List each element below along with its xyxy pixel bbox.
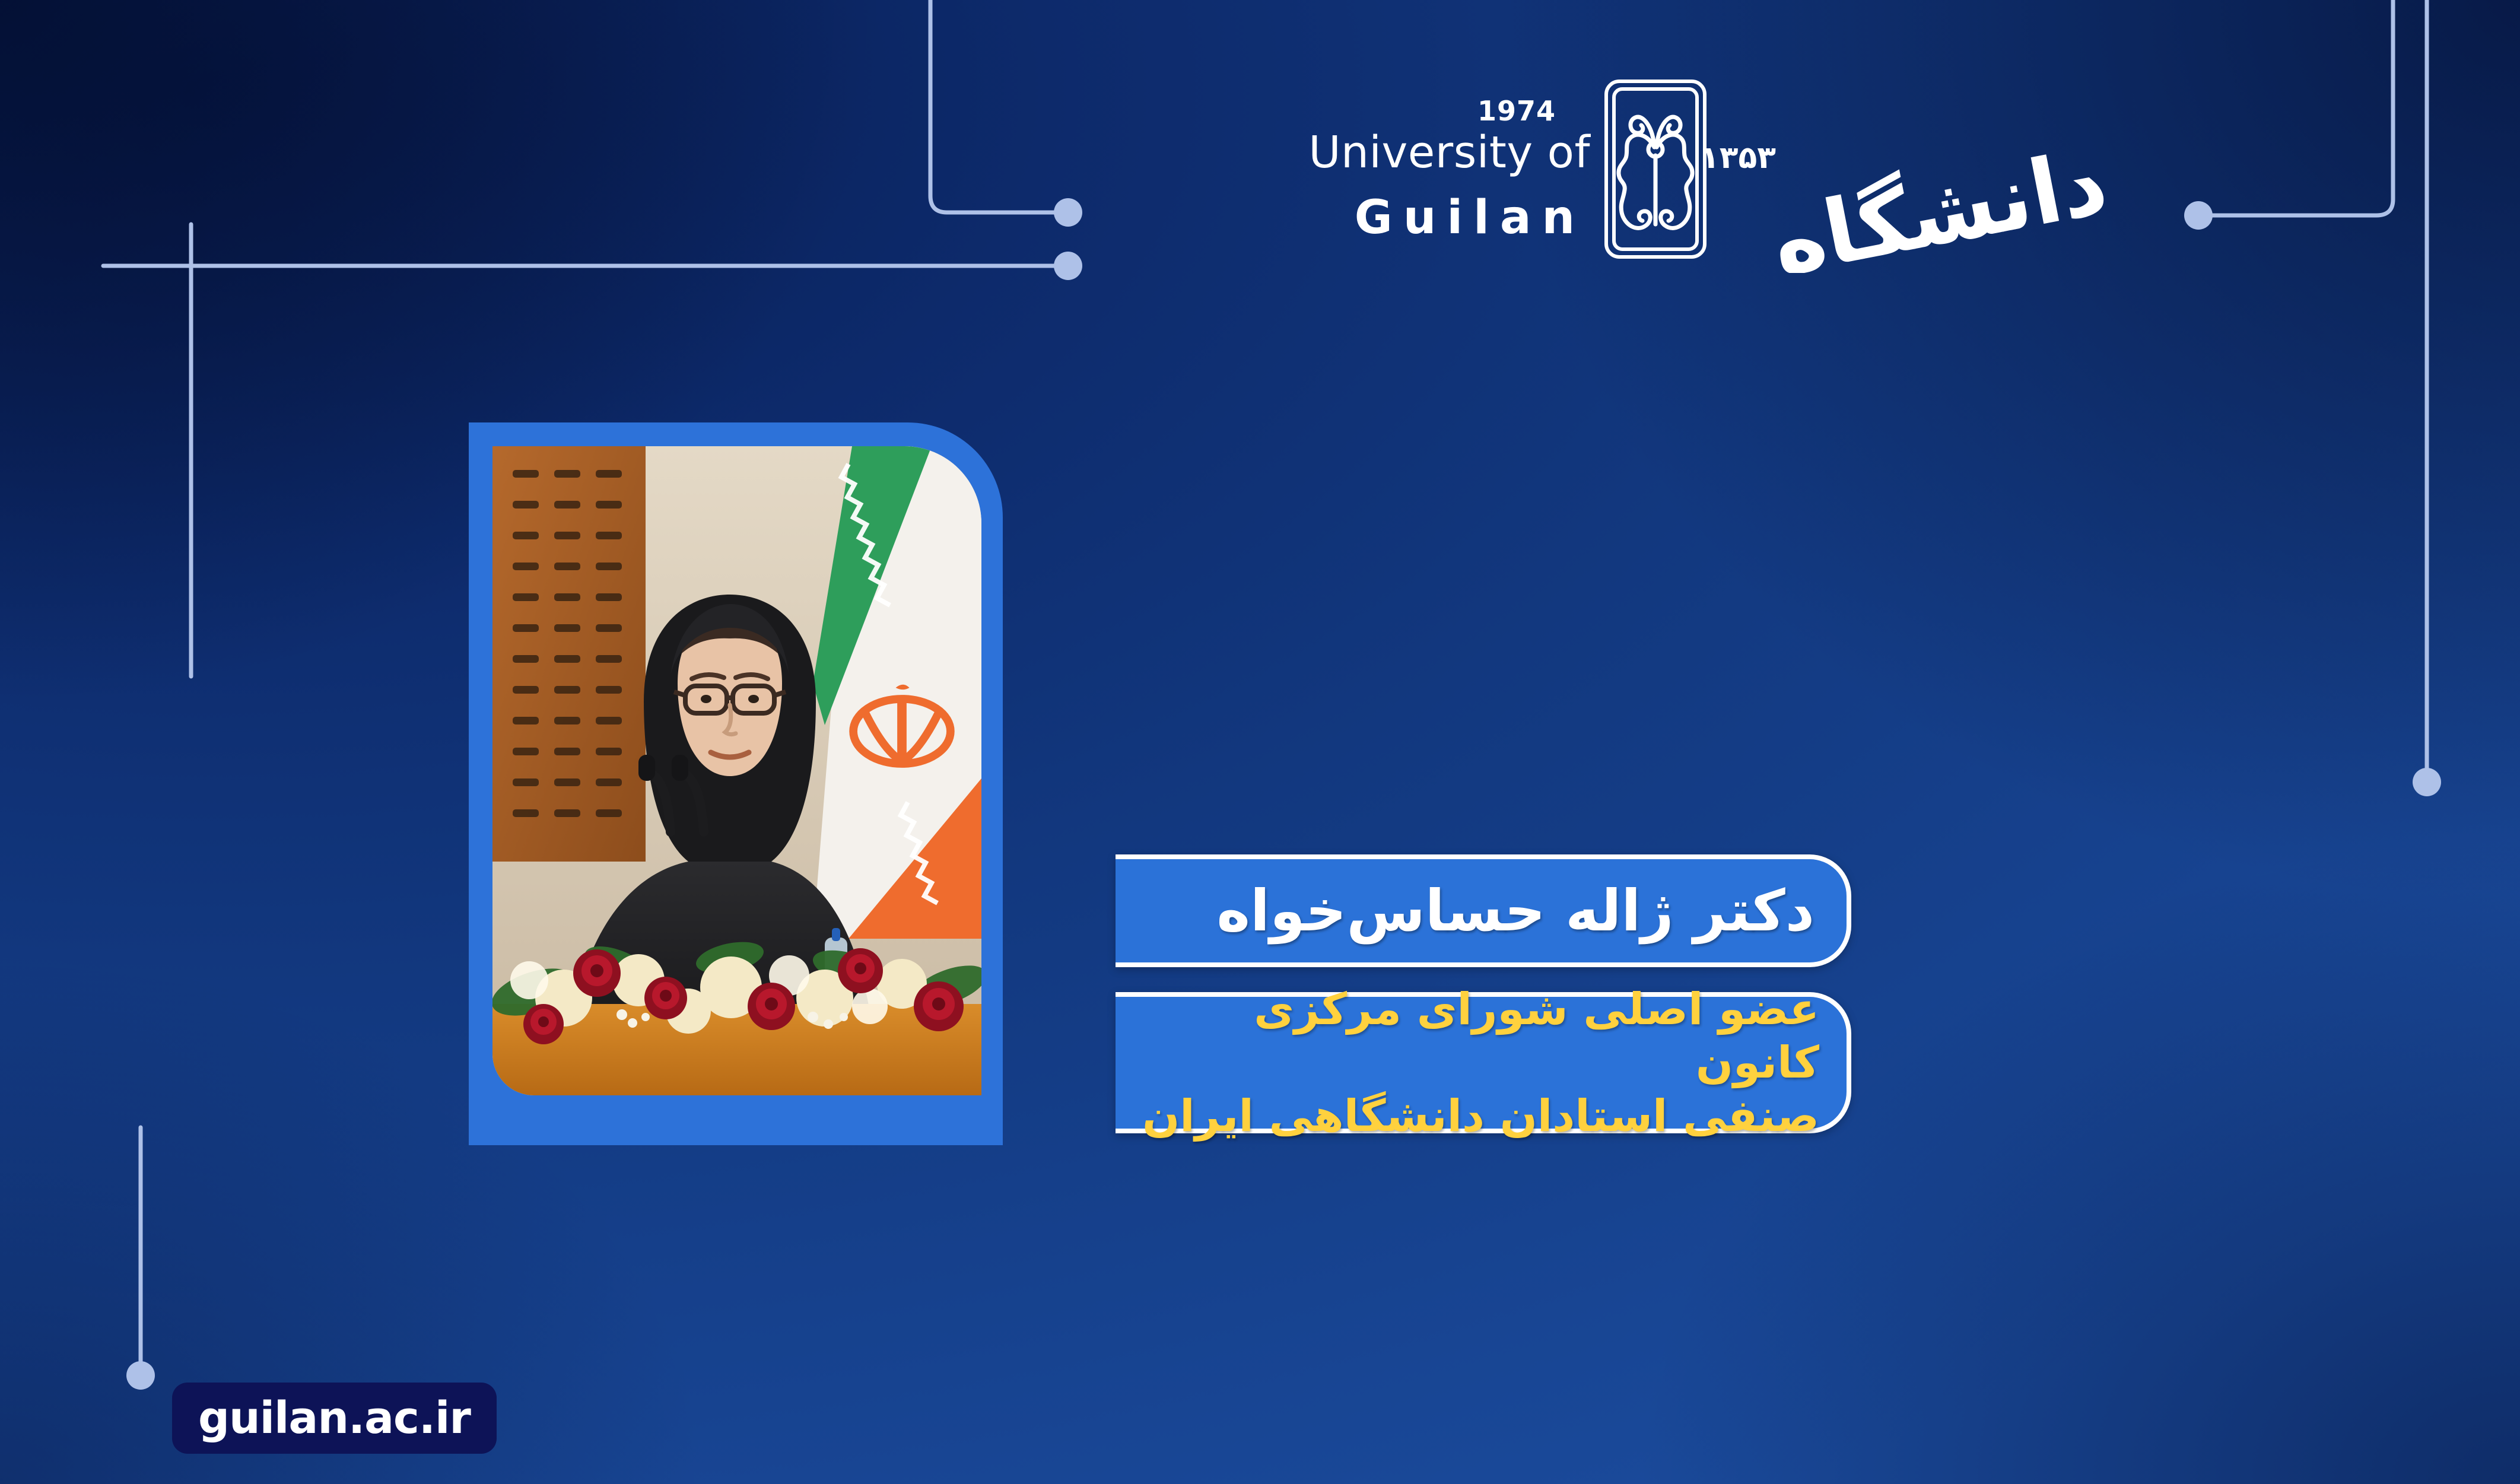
speaker-photo-frame	[469, 422, 1003, 1145]
deco-dot-top-inner	[1054, 198, 1082, 227]
speaker-name-banner: دکتر ژاله حساس‌خواه	[1116, 854, 1851, 967]
deco-dot-right-upper	[2184, 201, 2213, 230]
speaker-role-line1: عضو اصلی شورای مرکزی کانون	[1254, 984, 1819, 1088]
speaker-name: دکتر ژاله حساس‌خواه	[1216, 882, 1814, 939]
logo-english-line2: Guilan	[1234, 195, 1590, 241]
logo-persian-name-glyphs: دانشگاه گیلان	[1756, 83, 2112, 273]
deco-line-right-elbow	[2208, 0, 2393, 215]
deco-dot-right-lower	[2413, 768, 2441, 796]
deco-dot-bottom-left	[126, 1361, 155, 1390]
logo-english-name: University of Guilan	[1234, 131, 1590, 241]
university-logo: University of Guilan 1974 ۱۳۵۳	[1234, 89, 2112, 285]
guilan-university-emblem-icon	[1602, 77, 1709, 261]
speaker-role: عضو اصلی شورای مرکزی کانونصنفی استادان د…	[1133, 983, 1819, 1143]
deco-line-top-elbow	[930, 0, 1056, 212]
deco-dot-top-outer	[1054, 252, 1082, 280]
website-url-pill[interactable]: guilan.ac.ir	[172, 1383, 497, 1454]
speaker-photo	[492, 446, 981, 1095]
speaker-role-banner: عضو اصلی شورای مرکزی کانونصنفی استادان د…	[1116, 992, 1851, 1133]
logo-persian-name: دانشگاه گیلان	[1756, 83, 2112, 273]
speaker-photo-illustration	[492, 446, 981, 1095]
logo-english-line1: University of	[1234, 131, 1590, 174]
poster-canvas: University of Guilan 1974 ۱۳۵۳	[0, 0, 2520, 1484]
logo-year-gregorian: 1974	[1477, 95, 1556, 127]
speaker-role-line2: صنفی استادان دانشگاهی ایران	[1142, 1091, 1819, 1142]
website-url-text: guilan.ac.ir	[198, 1396, 471, 1440]
svg-text:دانشگاه گیلان: دانشگاه گیلان	[1756, 131, 2112, 273]
